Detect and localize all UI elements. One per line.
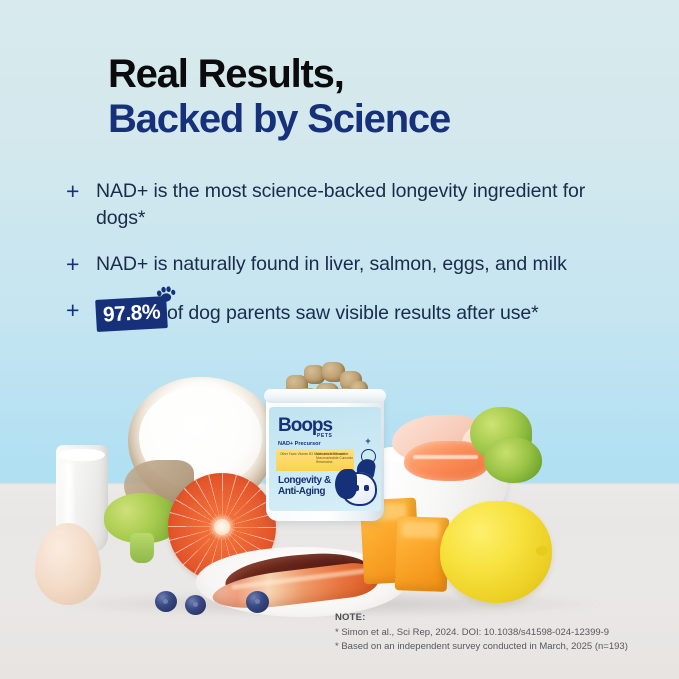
product-photo: Boops PETS NAD+ Precursor Other Facts Vi…	[0, 355, 679, 645]
footnote-line: * Based on an independent survey conduct…	[335, 640, 655, 654]
blueberry	[155, 591, 177, 612]
footnote-title: NOTE:	[335, 612, 655, 623]
supplement-jar: Boops PETS NAD+ Precursor Other Facts Vi…	[266, 361, 384, 521]
orange-core	[214, 519, 230, 535]
plus-cross-icon: +	[360, 437, 376, 446]
page-title: Real Results, Backed by Science	[108, 52, 628, 142]
dog-eye	[354, 485, 359, 491]
promotional-image: Real Results, Backed by Science + NAD+ i…	[0, 0, 679, 679]
list-item: + NAD+ is naturally found in liver, salm…	[66, 251, 651, 278]
plus-icon: +	[66, 251, 96, 278]
list-item-label: 97.8%of dog parents saw visible results …	[96, 297, 539, 329]
footnote-line: * Simon et al., Sci Rep, 2024. DOI: 10.1…	[335, 626, 655, 640]
plus-icon: +	[66, 178, 96, 205]
blueberry	[185, 595, 206, 615]
benefit-list: + NAD+ is the most science-backed longev…	[66, 178, 651, 348]
dog-patch	[335, 469, 357, 499]
list-item-label: NAD+ is naturally found in liver, salmon…	[96, 251, 567, 278]
headline-line-1: Real Results,	[108, 52, 628, 97]
lemon-nub	[536, 546, 548, 556]
list-item-statistic: + 97.8%of dog parents saw visible result…	[66, 297, 651, 329]
product-label: Boops PETS NAD+ Precursor Other Facts Vi…	[269, 407, 381, 511]
list-item: + NAD+ is the most science-backed longev…	[66, 178, 651, 232]
broccoli-stalk	[130, 533, 154, 563]
footnote-block: NOTE: * Simon et al., Sci Rep, 2024. DOI…	[335, 612, 655, 653]
blueberry	[246, 591, 269, 613]
list-item-label: NAD+ is the most science-backed longevit…	[96, 178, 616, 232]
stat-badge-wrap: 97.8%	[96, 297, 167, 329]
jar-rim	[264, 389, 386, 403]
lemon	[440, 501, 552, 603]
dog-eye	[364, 485, 369, 491]
precursor-text: NAD+ Precursor	[278, 441, 321, 447]
broccoli-right	[484, 437, 542, 483]
paw-print-icon	[155, 285, 177, 304]
plus-icon: +	[66, 297, 96, 324]
stat-description: of dog parents saw visible results after…	[167, 302, 539, 324]
headline-line-2: Backed by Science	[108, 97, 628, 142]
dog-mascot-illustration	[335, 457, 379, 509]
brand-subtitle: PETS	[317, 433, 332, 439]
